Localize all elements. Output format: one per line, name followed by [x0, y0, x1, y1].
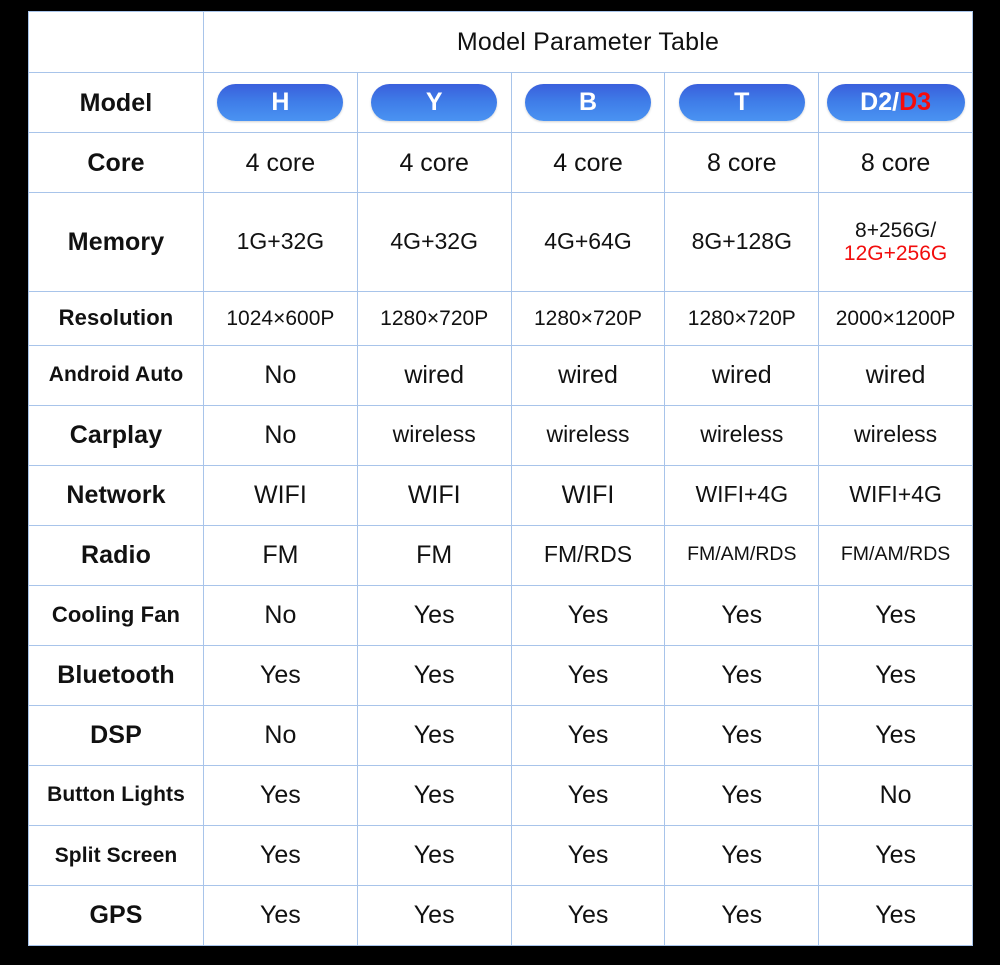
table-row-android-auto: Android Auto No wired wired wired wired — [29, 345, 973, 405]
model-badge-d2-d3[interactable]: D2/D3 — [827, 84, 965, 121]
table-cell-radio-b: FM/RDS — [511, 525, 665, 585]
table-cell-button-lights-y: Yes — [357, 765, 511, 825]
table-cell-carplay-b: wireless — [511, 405, 665, 465]
table-cell-model-h: H — [204, 73, 358, 133]
table-cell-memory-d2d3: 8+256G/ 12G+256G — [819, 193, 973, 292]
memory-d3-value: 12G+256G — [819, 242, 972, 266]
row-label-bluetooth: Bluetooth — [29, 645, 204, 705]
table-cell-gps-y: Yes — [357, 885, 511, 945]
table-cell-model-y: Y — [357, 73, 511, 133]
table-cell-button-lights-t: Yes — [665, 765, 819, 825]
row-label-split-screen: Split Screen — [29, 825, 204, 885]
memory-d2-value: 8+256G/ — [819, 219, 972, 243]
row-label-memory: Memory — [29, 193, 204, 292]
table-cell-bluetooth-h: Yes — [204, 645, 358, 705]
model-badge-d2-label: D2/ — [860, 88, 899, 116]
table-cell-android-auto-h: No — [204, 345, 358, 405]
table-cell-cooling-fan-h: No — [204, 585, 358, 645]
table-cell-android-auto-b: wired — [511, 345, 665, 405]
table-cell-button-lights-b: Yes — [511, 765, 665, 825]
table-row-split-screen: Split Screen Yes Yes Yes Yes Yes — [29, 825, 973, 885]
table-cell-resolution-h: 1024×600P — [204, 292, 358, 345]
table-cell-button-lights-h: Yes — [204, 765, 358, 825]
table-row-core: Core 4 core 4 core 4 core 8 core 8 core — [29, 133, 973, 193]
table-cell-core-b: 4 core — [511, 133, 665, 193]
table-row-gps: GPS Yes Yes Yes Yes Yes — [29, 885, 973, 945]
table-cell-bluetooth-d2d3: Yes — [819, 645, 973, 705]
table-cell-network-b: WIFI — [511, 465, 665, 525]
table-cell-split-screen-h: Yes — [204, 825, 358, 885]
table-cell-bluetooth-b: Yes — [511, 645, 665, 705]
model-badge-t-label: T — [734, 88, 749, 116]
row-label-button-lights: Button Lights — [29, 765, 204, 825]
table-cell-carplay-t: wireless — [665, 405, 819, 465]
table-cell-resolution-d2d3: 2000×1200P — [819, 292, 973, 345]
row-label-core: Core — [29, 133, 204, 193]
table-cell-core-y: 4 core — [357, 133, 511, 193]
table-cell-model-d2d3: D2/D3 — [819, 73, 973, 133]
row-label-cooling-fan: Cooling Fan — [29, 585, 204, 645]
table-cell-dsp-d2d3: Yes — [819, 705, 973, 765]
table-cell-memory-y: 4G+32G — [357, 193, 511, 292]
table-cell-dsp-b: Yes — [511, 705, 665, 765]
table-cell-network-h: WIFI — [204, 465, 358, 525]
model-badge-y[interactable]: Y — [371, 84, 497, 121]
table-cell-button-lights-d2d3: No — [819, 765, 973, 825]
table-cell-radio-h: FM — [204, 525, 358, 585]
table-cell-network-t: WIFI+4G — [665, 465, 819, 525]
model-badge-b-label: B — [579, 88, 597, 116]
page-root: Model Parameter Table Model H Y B T — [0, 0, 1000, 965]
table-cell-network-y: WIFI — [357, 465, 511, 525]
model-badge-h-label: H — [271, 88, 289, 116]
row-label-radio: Radio — [29, 525, 204, 585]
table-cell-split-screen-t: Yes — [665, 825, 819, 885]
table-cell-memory-b: 4G+64G — [511, 193, 665, 292]
table-cell-android-auto-t: wired — [665, 345, 819, 405]
table-row-cooling-fan: Cooling Fan No Yes Yes Yes Yes — [29, 585, 973, 645]
table-row-carplay: Carplay No wireless wireless wireless wi… — [29, 405, 973, 465]
table-cell-carplay-h: No — [204, 405, 358, 465]
table-cell-cooling-fan-b: Yes — [511, 585, 665, 645]
table-row-button-lights: Button Lights Yes Yes Yes Yes No — [29, 765, 973, 825]
table-cell-gps-t: Yes — [665, 885, 819, 945]
row-label-model: Model — [29, 73, 204, 133]
table-cell-split-screen-y: Yes — [357, 825, 511, 885]
table-row-memory: Memory 1G+32G 4G+32G 4G+64G 8G+128G 8+25… — [29, 193, 973, 292]
table-cell-carplay-y: wireless — [357, 405, 511, 465]
model-badge-y-label: Y — [426, 88, 443, 116]
row-label-resolution: Resolution — [29, 292, 204, 345]
table-cell-radio-t: FM/AM/RDS — [665, 525, 819, 585]
table-cell-resolution-b: 1280×720P — [511, 292, 665, 345]
model-parameter-table: Model Parameter Table Model H Y B T — [28, 11, 973, 946]
table-cell-split-screen-b: Yes — [511, 825, 665, 885]
table-cell-gps-h: Yes — [204, 885, 358, 945]
table-cell-core-h: 4 core — [204, 133, 358, 193]
table-cell-cooling-fan-t: Yes — [665, 585, 819, 645]
table-cell-model-b: B — [511, 73, 665, 133]
table-row-dsp: DSP No Yes Yes Yes Yes — [29, 705, 973, 765]
table-cell-bluetooth-y: Yes — [357, 645, 511, 705]
table-row-bluetooth: Bluetooth Yes Yes Yes Yes Yes — [29, 645, 973, 705]
row-label-android-auto: Android Auto — [29, 345, 204, 405]
row-label-carplay: Carplay — [29, 405, 204, 465]
table-cell-cooling-fan-y: Yes — [357, 585, 511, 645]
row-label-network: Network — [29, 465, 204, 525]
table-cell-core-d2d3: 8 core — [819, 133, 973, 193]
table-row-resolution: Resolution 1024×600P 1280×720P 1280×720P… — [29, 292, 973, 345]
table-title-row: Model Parameter Table — [29, 12, 973, 73]
table-cell-gps-b: Yes — [511, 885, 665, 945]
table-cell-cooling-fan-d2d3: Yes — [819, 585, 973, 645]
table-cell-dsp-y: Yes — [357, 705, 511, 765]
table-cell-memory-h: 1G+32G — [204, 193, 358, 292]
table-cell-dsp-t: Yes — [665, 705, 819, 765]
row-label-gps: GPS — [29, 885, 204, 945]
model-badge-b[interactable]: B — [525, 84, 651, 121]
model-badge-d3-label: D3 — [899, 88, 931, 116]
table-cell-memory-t: 8G+128G — [665, 193, 819, 292]
table-cell-radio-y: FM — [357, 525, 511, 585]
model-parameter-table-card: Model Parameter Table Model H Y B T — [28, 11, 972, 946]
table-row-radio: Radio FM FM FM/RDS FM/AM/RDS FM/AM/RDS — [29, 525, 973, 585]
table-cell-android-auto-y: wired — [357, 345, 511, 405]
row-label-dsp: DSP — [29, 705, 204, 765]
page-title: Model Parameter Table — [204, 12, 973, 73]
table-row-network: Network WIFI WIFI WIFI WIFI+4G WIFI+4G — [29, 465, 973, 525]
table-cell-network-d2d3: WIFI+4G — [819, 465, 973, 525]
table-cell-model-t: T — [665, 73, 819, 133]
table-cell-dsp-h: No — [204, 705, 358, 765]
table-cell-split-screen-d2d3: Yes — [819, 825, 973, 885]
model-badge-t[interactable]: T — [679, 84, 805, 121]
table-cell-gps-d2d3: Yes — [819, 885, 973, 945]
model-badge-h[interactable]: H — [217, 84, 343, 121]
table-row-model: Model H Y B T D2/D3 — [29, 73, 973, 133]
title-row-corner-cell — [29, 12, 204, 73]
table-cell-android-auto-d2d3: wired — [819, 345, 973, 405]
table-cell-core-t: 8 core — [665, 133, 819, 193]
table-cell-carplay-d2d3: wireless — [819, 405, 973, 465]
table-cell-bluetooth-t: Yes — [665, 645, 819, 705]
table-cell-resolution-y: 1280×720P — [357, 292, 511, 345]
table-cell-radio-d2d3: FM/AM/RDS — [819, 525, 973, 585]
table-cell-resolution-t: 1280×720P — [665, 292, 819, 345]
